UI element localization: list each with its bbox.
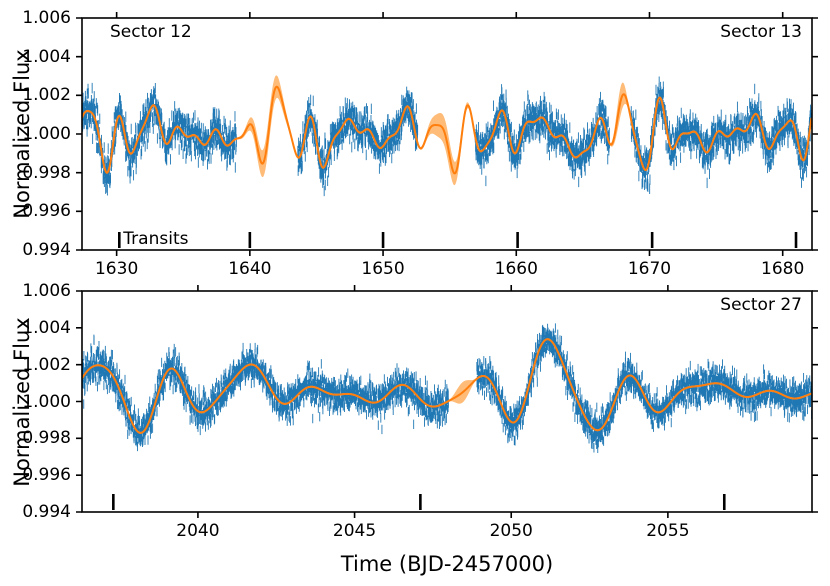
light-curve-canvas: [0, 0, 830, 586]
light-curve-figure: Normalized Flux Normalized Flux Time (BJ…: [0, 0, 830, 586]
